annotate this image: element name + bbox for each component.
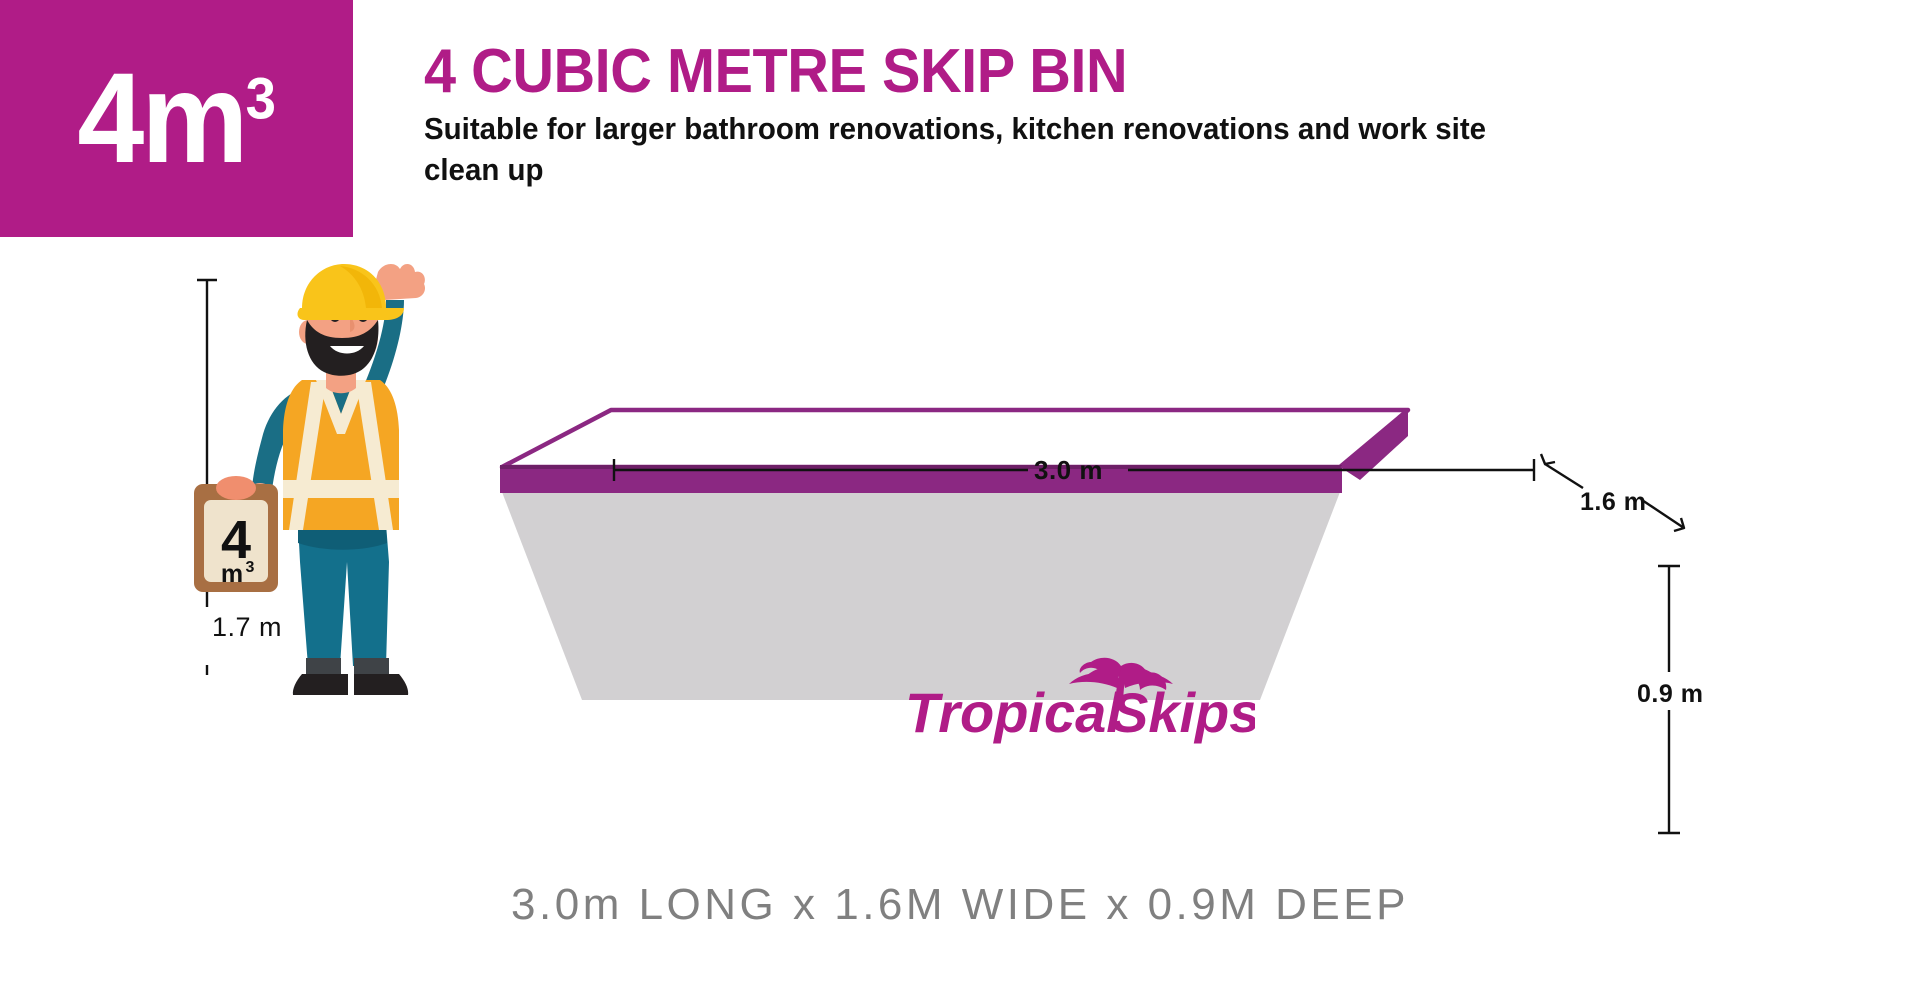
width-dimension-line-upper [1545, 464, 1583, 488]
width-dimension-line-lower [1642, 500, 1684, 528]
length-dimension-label: 3.0 m [1034, 455, 1103, 486]
depth-dimension-label: 0.9 m [1637, 680, 1703, 709]
infographic-canvas: 4m3 4 CUBIC METRE SKIP BIN Suitable for … [0, 0, 1920, 985]
width-arrow-upper [1541, 454, 1555, 464]
width-dimension-label: 1.6 m [1580, 488, 1646, 517]
dimensions-caption: 3.0m LONG x 1.6M WIDE x 0.9M DEEP [0, 880, 1920, 930]
